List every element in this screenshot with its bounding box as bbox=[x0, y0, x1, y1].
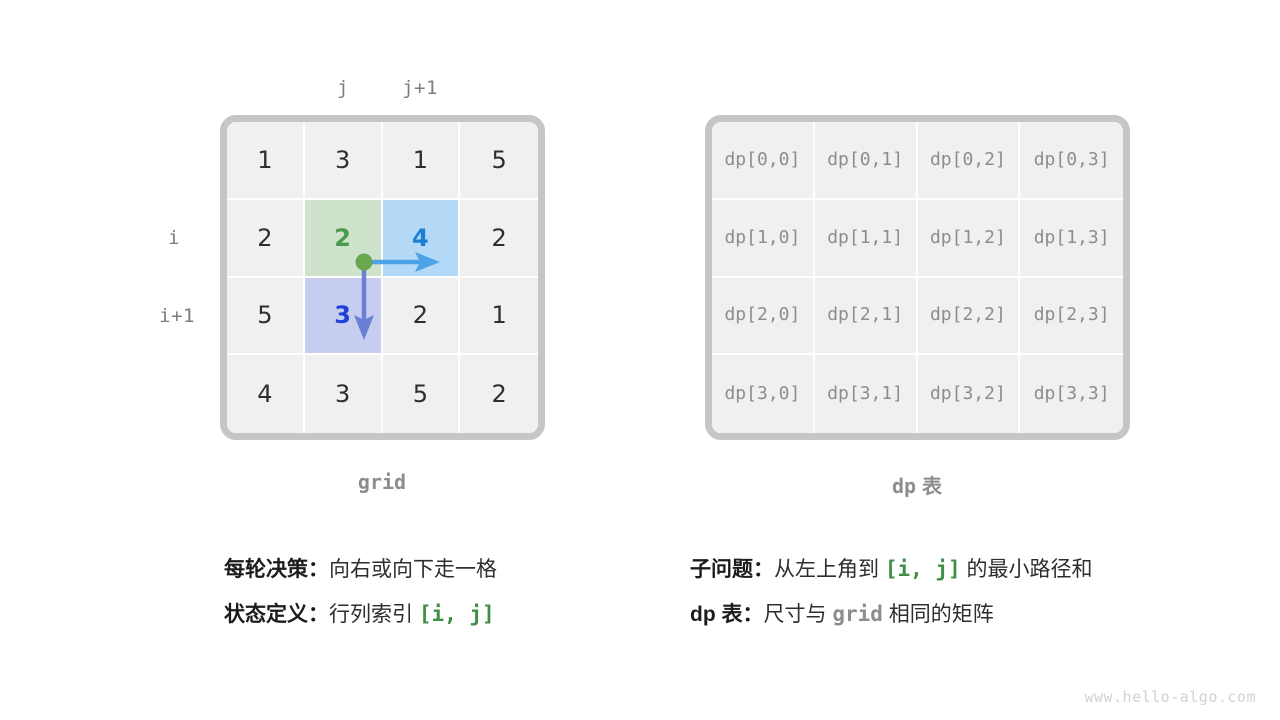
note-left-decision-sep: ： bbox=[308, 558, 329, 581]
grid-cell-0-2[interactable]: 1 bbox=[383, 122, 461, 200]
grid-cell-value: 1 bbox=[413, 148, 428, 172]
dp-cell-label: dp[3,1] bbox=[827, 385, 903, 403]
dp-cell-3-0[interactable]: dp[3,0] bbox=[712, 355, 815, 433]
grid-cell-value: 3 bbox=[335, 148, 350, 172]
note-right-dptable-text-a: 尺寸与 bbox=[764, 603, 833, 626]
grid-cell-value: 5 bbox=[491, 148, 506, 172]
grid-cell-0-3[interactable]: 5 bbox=[460, 122, 538, 200]
grid-cell-2-1-down-target[interactable]: 3 bbox=[305, 278, 383, 356]
grid-cell-value: 5 bbox=[413, 382, 428, 406]
grid-cell-3-2[interactable]: 5 bbox=[383, 355, 461, 433]
note-left-state: 状态定义：行列索引 [i, j] bbox=[224, 603, 495, 626]
dp-cell-2-3[interactable]: dp[2,3] bbox=[1020, 278, 1123, 356]
dp-cell-label: dp[0,3] bbox=[1034, 151, 1110, 169]
dp-cell-2-2[interactable]: dp[2,2] bbox=[918, 278, 1021, 356]
dp-cell-label: dp[1,3] bbox=[1034, 229, 1110, 247]
column-label-j: j bbox=[337, 77, 349, 99]
grid-cell-value: 2 bbox=[334, 226, 351, 250]
dp-caption-suffix: 表 bbox=[922, 474, 942, 498]
grid-cell-2-2[interactable]: 2 bbox=[383, 278, 461, 356]
dp-cell-2-1[interactable]: dp[2,1] bbox=[815, 278, 918, 356]
note-left-decision-text: 向右或向下走一格 bbox=[329, 558, 497, 581]
note-left-state-code: [i, j] bbox=[419, 602, 495, 626]
grid-cell-1-2-right-target[interactable]: 4 bbox=[383, 200, 461, 278]
note-left-state-sep: ： bbox=[308, 603, 329, 626]
note-right-subproblem-label: 子问题 bbox=[690, 558, 753, 581]
site-watermark: www.hello-algo.com bbox=[1084, 688, 1256, 706]
dp-cell-label: dp[3,0] bbox=[724, 385, 800, 403]
grid-cell-3-0[interactable]: 4 bbox=[227, 355, 305, 433]
dp-cell-label: dp[1,2] bbox=[930, 229, 1006, 247]
grid-cell-3-1[interactable]: 3 bbox=[305, 355, 383, 433]
grid-cell-value: 2 bbox=[491, 226, 506, 250]
dp-cell-label: dp[2,3] bbox=[1034, 306, 1110, 324]
grid-cell-value: 3 bbox=[335, 382, 350, 406]
grid-cell-3-3[interactable]: 2 bbox=[460, 355, 538, 433]
dp-cell-1-3[interactable]: dp[1,3] bbox=[1020, 200, 1123, 278]
diagram-canvas: j j+1 i i+1 1 3 1 5 2 2 4 2 5 3 2 1 4 3 … bbox=[0, 0, 1280, 720]
note-left-state-text: 行列索引 bbox=[329, 603, 419, 626]
grid-cell-value: 5 bbox=[257, 303, 272, 327]
row-label-i: i bbox=[120, 227, 180, 249]
dp-cell-label: dp[0,0] bbox=[724, 151, 800, 169]
grid-cell-1-1-current[interactable]: 2 bbox=[305, 200, 383, 278]
grid-cell-value: 2 bbox=[257, 226, 272, 250]
grid-caption: grid bbox=[358, 470, 406, 494]
dp-caption-prefix: dp bbox=[892, 474, 916, 498]
dp-cell-label: dp[0,2] bbox=[930, 151, 1006, 169]
note-right-subproblem-code: [i, j] bbox=[885, 557, 961, 581]
dp-cell-label: dp[2,2] bbox=[930, 306, 1006, 324]
grid-cell-2-0[interactable]: 5 bbox=[227, 278, 305, 356]
dp-cell-1-2[interactable]: dp[1,2] bbox=[918, 200, 1021, 278]
grid-cell-value: 2 bbox=[413, 303, 428, 327]
grid-cell-value: 3 bbox=[334, 303, 351, 327]
note-right-subproblem-sep: ： bbox=[753, 558, 774, 581]
note-right-dptable-code: grid bbox=[832, 602, 883, 626]
note-right-dptable-label: dp 表 bbox=[690, 603, 743, 626]
dp-cell-label: dp[0,1] bbox=[827, 151, 903, 169]
dp-cell-0-1[interactable]: dp[0,1] bbox=[815, 122, 918, 200]
dp-cell-1-0[interactable]: dp[1,0] bbox=[712, 200, 815, 278]
note-left-decision: 每轮决策：向右或向下走一格 bbox=[224, 558, 497, 581]
grid-cell-value: 1 bbox=[257, 148, 272, 172]
dp-cell-2-0[interactable]: dp[2,0] bbox=[712, 278, 815, 356]
grid-cell-2-3[interactable]: 1 bbox=[460, 278, 538, 356]
column-label-j-plus-1: j+1 bbox=[402, 77, 438, 99]
note-right-dptable-sep: ： bbox=[743, 603, 764, 626]
note-right-dptable: dp 表：尺寸与 grid 相同的矩阵 bbox=[690, 603, 994, 626]
dp-cell-3-3[interactable]: dp[3,3] bbox=[1020, 355, 1123, 433]
dp-caption: dp表 bbox=[892, 470, 942, 499]
grid-cell-1-3[interactable]: 2 bbox=[460, 200, 538, 278]
grid-cell-value: 4 bbox=[412, 226, 429, 250]
dp-cell-label: dp[3,2] bbox=[930, 385, 1006, 403]
dp-cell-3-2[interactable]: dp[3,2] bbox=[918, 355, 1021, 433]
note-right-subproblem-text-a: 从左上角到 bbox=[774, 558, 885, 581]
grid-cell-value: 2 bbox=[491, 382, 506, 406]
note-left-state-label: 状态定义 bbox=[224, 603, 308, 626]
dp-cell-0-0[interactable]: dp[0,0] bbox=[712, 122, 815, 200]
dp-cell-label: dp[1,0] bbox=[724, 229, 800, 247]
dp-cell-label: dp[1,1] bbox=[827, 229, 903, 247]
note-right-dptable-text-b: 相同的矩阵 bbox=[883, 603, 994, 626]
note-right-subproblem: 子问题：从左上角到 [i, j] 的最小路径和 bbox=[690, 558, 1093, 581]
row-label-i-plus-1: i+1 bbox=[120, 305, 195, 327]
note-left-decision-label: 每轮决策 bbox=[224, 558, 308, 581]
grid-cell-value: 4 bbox=[257, 382, 272, 406]
dp-cell-label: dp[2,0] bbox=[724, 306, 800, 324]
grid-matrix: 1 3 1 5 2 2 4 2 5 3 2 1 4 3 5 2 bbox=[220, 115, 545, 440]
dp-cell-label: dp[3,3] bbox=[1034, 385, 1110, 403]
dp-matrix: dp[0,0] dp[0,1] dp[0,2] dp[0,3] dp[1,0] … bbox=[705, 115, 1130, 440]
dp-cell-3-1[interactable]: dp[3,1] bbox=[815, 355, 918, 433]
grid-cell-0-1[interactable]: 3 bbox=[305, 122, 383, 200]
grid-cell-1-0[interactable]: 2 bbox=[227, 200, 305, 278]
grid-cell-0-0[interactable]: 1 bbox=[227, 122, 305, 200]
note-right-subproblem-text-b: 的最小路径和 bbox=[961, 558, 1093, 581]
grid-cell-value: 1 bbox=[491, 303, 506, 327]
dp-cell-0-2[interactable]: dp[0,2] bbox=[918, 122, 1021, 200]
dp-cell-1-1[interactable]: dp[1,1] bbox=[815, 200, 918, 278]
dp-cell-label: dp[2,1] bbox=[827, 306, 903, 324]
dp-cell-0-3[interactable]: dp[0,3] bbox=[1020, 122, 1123, 200]
